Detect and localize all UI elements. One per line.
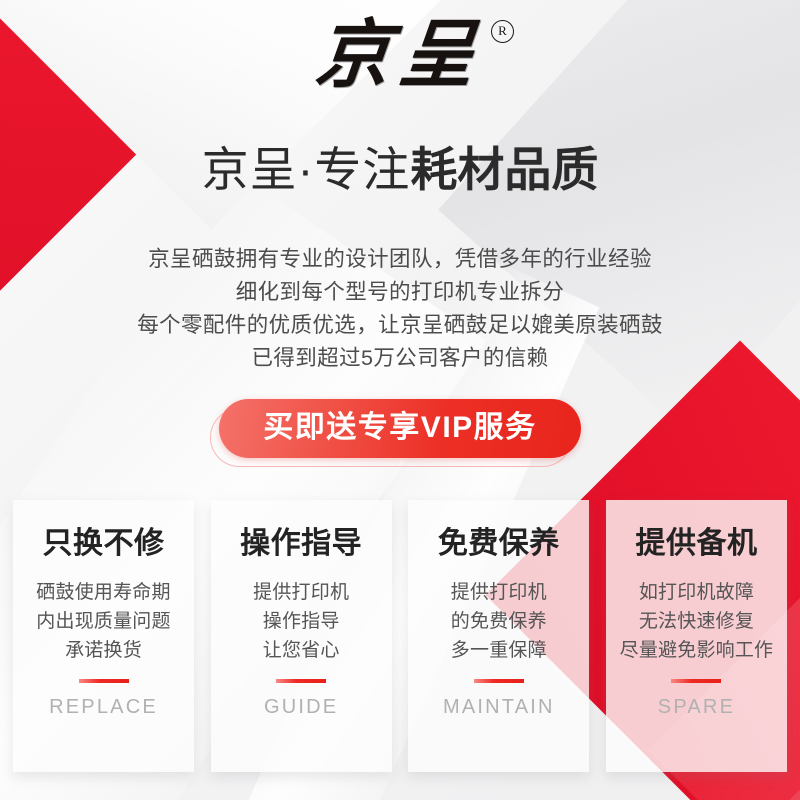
service-card: 免费保养 提供打印机 的免费保养 多一重保障 MAINTAIN (408, 500, 589, 772)
service-card-line: 硒鼓使用寿命期 (13, 578, 194, 607)
intro-line: 已得到超过5万公司客户的信赖 (0, 342, 800, 375)
vip-badge-container: 买即送专享VIP服务 (0, 399, 800, 469)
service-card-line: 内出现质量问题 (13, 607, 194, 636)
service-card-row: 只换不修 硒鼓使用寿命期 内出现质量问题 承诺换货 REPLACE 操作指导 提… (0, 500, 800, 775)
service-card-body: 硒鼓使用寿命期 内出现质量问题 承诺换货 (13, 578, 194, 665)
service-card-line: 让您省心 (211, 636, 392, 665)
service-card: 操作指导 提供打印机 操作指导 让您省心 GUIDE (211, 500, 392, 772)
service-card-divider (79, 679, 129, 683)
service-card-caption: GUIDE (211, 696, 392, 719)
service-card-line: 尽量避免影响工作 (606, 636, 787, 665)
service-card-body: 如打印机故障 无法快速修复 尽量避免影响工作 (606, 578, 787, 665)
service-card-title: 免费保养 (408, 527, 589, 562)
service-card-line: 无法快速修复 (606, 607, 787, 636)
service-card-title: 提供备机 (606, 527, 787, 562)
intro-paragraph: 京呈硒鼓拥有专业的设计团队，凭借多年的行业经验 细化到每个型号的打印机专业拆分 … (0, 243, 800, 375)
page-title-light: 京呈·专注 (202, 143, 411, 196)
brand-logo: 京呈 R (316, 18, 484, 92)
service-card-title: 操作指导 (211, 527, 392, 562)
promo-banner: 京呈 R 京呈·专注耗材品质 京呈硒鼓拥有专业的设计团队，凭借多年的行业经验 细… (0, 0, 800, 800)
service-card-caption: MAINTAIN (408, 696, 589, 719)
service-card-title: 只换不修 (13, 527, 194, 562)
registered-trademark-icon: R (491, 20, 514, 43)
intro-line: 每个零配件的优质优选，让京呈硒鼓足以媲美原装硒鼓 (0, 309, 800, 342)
service-card-caption: REPLACE (13, 696, 194, 719)
vip-badge-label: 买即送专享VIP服务 (219, 399, 580, 458)
vip-badge: 买即送专享VIP服务 (219, 399, 580, 458)
service-card-line: 如打印机故障 (606, 578, 787, 607)
service-card-line: 的免费保养 (408, 607, 589, 636)
service-card-line: 提供打印机 (408, 578, 589, 607)
intro-line: 细化到每个型号的打印机专业拆分 (0, 276, 800, 309)
service-card-line: 提供打印机 (211, 578, 392, 607)
service-card-body: 提供打印机 操作指导 让您省心 (211, 578, 392, 665)
service-card-divider (276, 679, 326, 683)
service-card-line: 承诺换货 (13, 636, 194, 665)
service-card-divider (474, 679, 524, 683)
page-title-heavy: 耗材品质 (410, 143, 598, 196)
intro-line: 京呈硒鼓拥有专业的设计团队，凭借多年的行业经验 (0, 243, 800, 276)
service-card-divider (671, 679, 721, 683)
service-card-body: 提供打印机 的免费保养 多一重保障 (408, 578, 589, 665)
brand-logo-text: 京呈 (312, 18, 488, 92)
service-card-caption: SPARE (606, 696, 787, 719)
service-card: 只换不修 硒鼓使用寿命期 内出现质量问题 承诺换货 REPLACE (13, 500, 194, 772)
page-title: 京呈·专注耗材品质 (0, 144, 800, 196)
service-card-line: 多一重保障 (408, 636, 589, 665)
service-card: 提供备机 如打印机故障 无法快速修复 尽量避免影响工作 SPARE (606, 500, 787, 772)
service-card-line: 操作指导 (211, 607, 392, 636)
brand-logo-block: 京呈 R (0, 18, 800, 92)
